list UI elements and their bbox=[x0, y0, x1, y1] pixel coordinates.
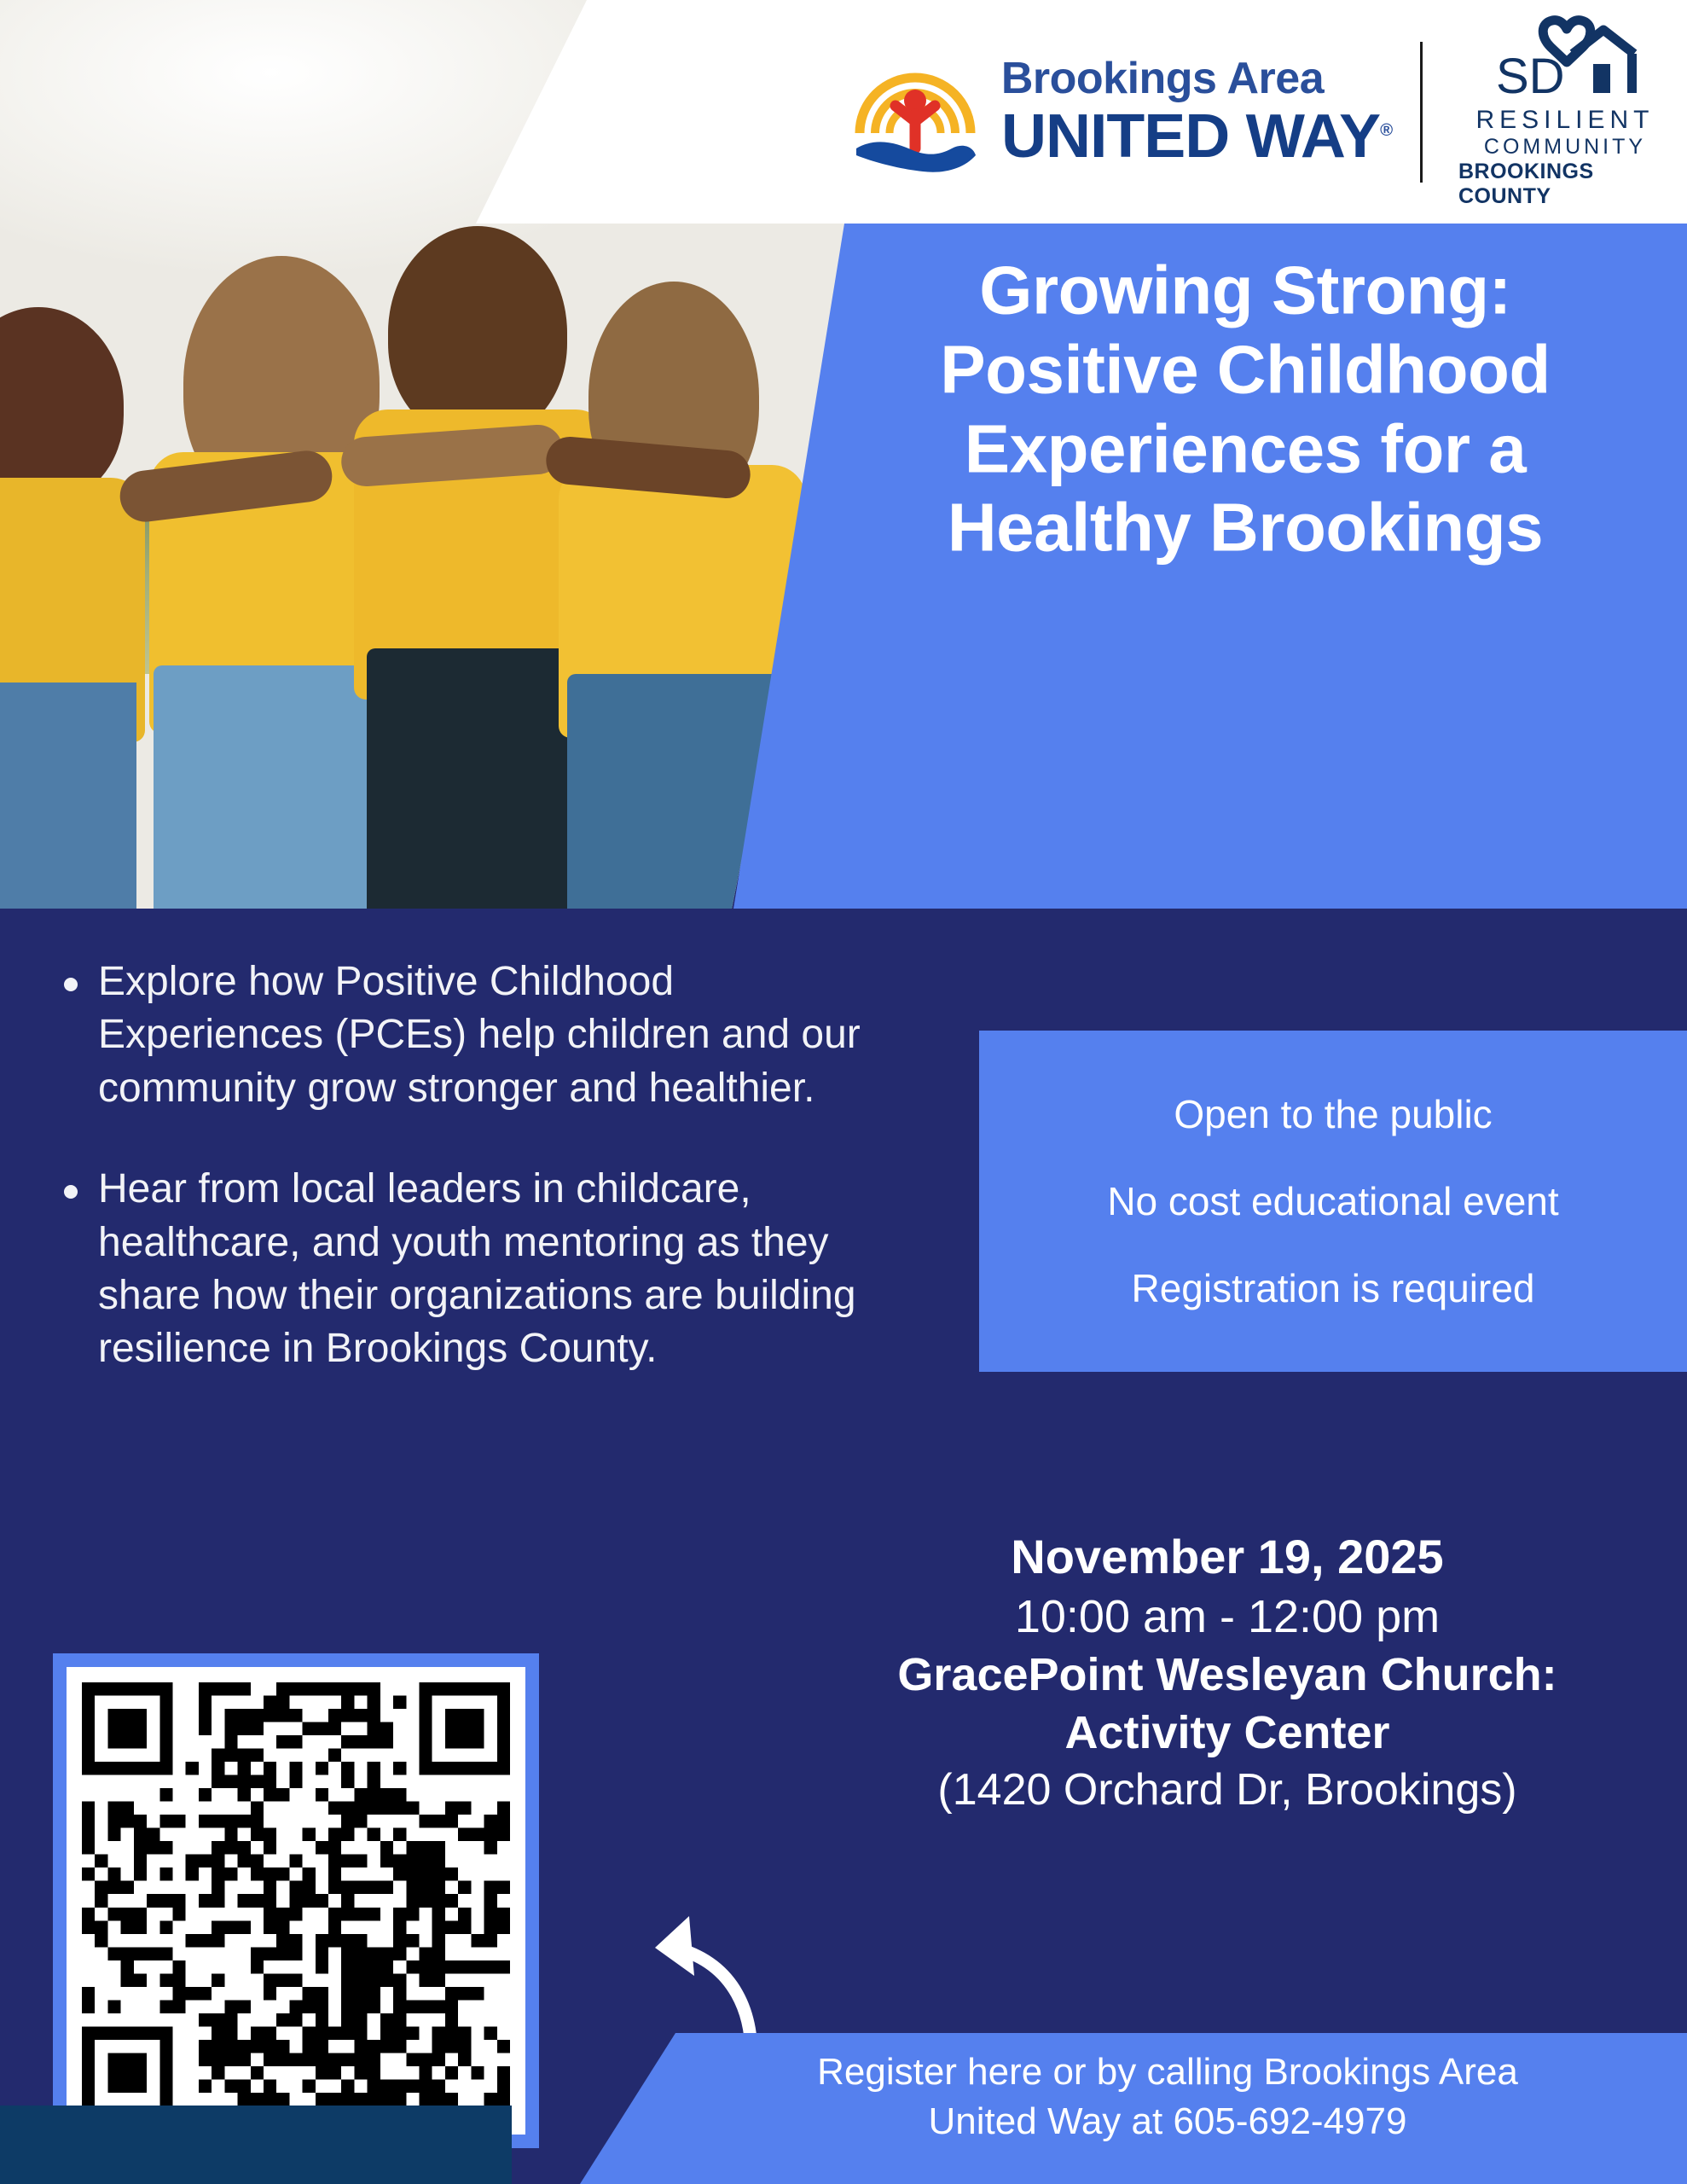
page-title: Growing Strong: Positive Childhood Exper… bbox=[853, 251, 1638, 567]
list-item: Hear from local leaders in childcare, he… bbox=[64, 1163, 883, 1376]
footer-accent-block bbox=[0, 2106, 512, 2184]
sd-line-county: BROOKINGS COUNTY bbox=[1458, 160, 1672, 209]
list-item: Explore how Positive Childhood Experienc… bbox=[64, 955, 883, 1115]
person-head bbox=[0, 307, 124, 503]
svg-text:SD: SD bbox=[1496, 49, 1565, 104]
person-jeans bbox=[154, 665, 401, 909]
house-heart-icon: SD bbox=[1484, 15, 1646, 104]
event-address: (1420 Orchard Dr, Brookings) bbox=[768, 1762, 1687, 1820]
bullet-dot-icon bbox=[64, 978, 78, 991]
bullet-dot-icon bbox=[64, 1185, 78, 1199]
sd-line-community: COMMUNITY bbox=[1484, 135, 1646, 160]
uw-line2: UNITED WAY® bbox=[1001, 106, 1392, 167]
info-item-public: Open to the public bbox=[1174, 1091, 1492, 1137]
title-line-3: Experiences for a bbox=[853, 409, 1638, 489]
event-details: November 19, 2025 10:00 am - 12:00 pm Gr… bbox=[768, 1527, 1687, 1820]
logo-divider bbox=[1420, 42, 1423, 183]
person-jeans bbox=[0, 682, 136, 909]
qr-code-quiet-zone bbox=[67, 1667, 525, 2135]
info-item-cost: No cost educational event bbox=[1107, 1178, 1558, 1224]
title-line-2: Positive Childhood bbox=[853, 330, 1638, 409]
event-date: November 19, 2025 bbox=[768, 1527, 1687, 1587]
united-way-hand-rainbow-person-icon bbox=[851, 48, 979, 176]
title-line-4: Healthy Brookings bbox=[853, 489, 1638, 568]
person-head bbox=[388, 226, 567, 439]
bullet-text: Explore how Positive Childhood Experienc… bbox=[98, 955, 883, 1115]
footer-register-text: Register here or by calling Brookings Ar… bbox=[648, 2047, 1687, 2146]
title-line-1: Growing Strong: bbox=[853, 251, 1638, 330]
footer-line-1: Register here or by calling Brookings Ar… bbox=[648, 2047, 1687, 2097]
united-way-logo: Brookings Area UNITED WAY® bbox=[851, 48, 1384, 176]
logo-row: Brookings Area UNITED WAY® SD RESILIENT … bbox=[408, 0, 1687, 224]
event-info-box: Open to the public No cost educational e… bbox=[979, 1031, 1687, 1372]
sd-line-resilient: RESILIENT bbox=[1475, 106, 1654, 135]
bullet-text: Hear from local leaders in childcare, he… bbox=[98, 1163, 883, 1376]
event-venue-line1: GracePoint Wesleyan Church: bbox=[768, 1647, 1687, 1705]
qr-code-icon[interactable] bbox=[82, 1682, 510, 2119]
sd-resilient-community-logo: SD RESILIENT COMMUNITY BROOKINGS COUNTY bbox=[1458, 15, 1672, 209]
registered-trademark-icon: ® bbox=[1380, 121, 1392, 140]
event-venue-line2: Activity Center bbox=[768, 1705, 1687, 1763]
bullet-list: Explore how Positive Childhood Experienc… bbox=[64, 955, 883, 1424]
united-way-wordmark: Brookings Area UNITED WAY® bbox=[1001, 56, 1384, 167]
qr-code-panel[interactable] bbox=[53, 1653, 539, 2148]
uw-line1: Brookings Area bbox=[1001, 56, 1384, 101]
event-time: 10:00 am - 12:00 pm bbox=[768, 1587, 1687, 1647]
flyer-page: Brookings Area UNITED WAY® SD RESILIENT … bbox=[0, 0, 1687, 2184]
footer-line-2: United Way at 605-692-4979 bbox=[648, 2097, 1687, 2146]
info-item-registration: Registration is required bbox=[1131, 1265, 1534, 1311]
